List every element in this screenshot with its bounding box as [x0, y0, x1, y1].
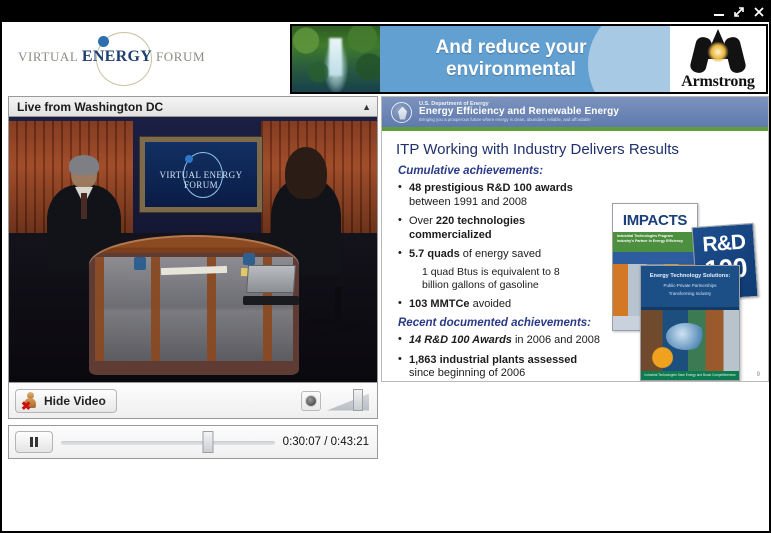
- ets-cover-footer: Industrial Technologies Save Energy and …: [641, 371, 739, 380]
- bullet-mmtce-rest: avoided: [470, 298, 512, 310]
- volume-handle[interactable]: [353, 389, 363, 411]
- ets-subtitle-2: Transforming Industry: [641, 288, 739, 296]
- publication-covers: IMPACTS Industrial Technologies Program …: [610, 203, 758, 382]
- desk-mug-right: [243, 253, 255, 265]
- video-panel-title: Live from Washington DC: [17, 100, 163, 114]
- slide-page-number: 9: [757, 372, 760, 378]
- bullet-recent-awards: 14 R&D 100 Awards in 2006 and 2008: [396, 334, 614, 348]
- hide-video-button[interactable]: ✖ Hide Video: [15, 389, 117, 413]
- bullet-tech-lead: Over: [409, 215, 436, 227]
- seek-track-line: [61, 441, 275, 445]
- bullet-tech-second: commercialized: [409, 229, 492, 241]
- logo-word-energy: ENERGY: [82, 48, 152, 65]
- close-icon[interactable]: [751, 5, 767, 20]
- logo-word-virtual: VIRTUAL: [18, 49, 78, 64]
- video-module: Live from Washington DC ▲ VIRTUAL ENERGY…: [8, 96, 378, 426]
- playback-bar: 0:30:07 / 0:43:21: [8, 425, 378, 459]
- studio-desk: [89, 235, 299, 375]
- doe-tagline: Bringing you a prosperous future where e…: [419, 118, 619, 123]
- waterfall-photo: [292, 26, 380, 92]
- chevron-up-icon[interactable]: ▲: [362, 102, 371, 112]
- impacts-blue-band: [613, 252, 697, 264]
- pause-icon: [30, 437, 38, 447]
- video-controls-bar: ✖ Hide Video: [8, 383, 378, 419]
- speaker-mute-button[interactable]: [301, 391, 321, 411]
- brand-header: VIRTUAL ENERGY FORUM: [4, 22, 289, 92]
- video-panel-header[interactable]: Live from Washington DC ▲: [8, 96, 378, 116]
- sponsor-name: Armstrong: [681, 74, 754, 90]
- time-display: 0:30:07 / 0:43:21: [283, 436, 369, 448]
- hide-video-label: Hide Video: [44, 394, 106, 408]
- bullet-technologies: Over 220 technologies commercialized: [396, 215, 614, 242]
- banner-headline-line2: environmental: [436, 59, 587, 81]
- speaker-icon: [305, 395, 317, 407]
- armstrong-a-icon: [687, 31, 749, 73]
- section-heading-cumulative: Cumulative achievements:: [398, 165, 756, 177]
- sponsor-logo: Armstrong: [670, 26, 766, 92]
- video-stage[interactable]: VIRTUAL ENERGY FORUM: [8, 116, 378, 383]
- sponsor-banner-ad[interactable]: And reduce your environmental Armstrong: [290, 24, 768, 94]
- ets-cover-photo: [641, 310, 739, 371]
- sub-note-line1: 1 quad Btus is equivalent to 8: [422, 266, 560, 278]
- bullet-plants-second: since beginning of 2006: [409, 367, 525, 379]
- chair-stem: [335, 287, 341, 321]
- impacts-subtitle-band: Industrial Technologies Program Industry…: [613, 232, 697, 252]
- logo-wordmark: VIRTUAL ENERGY FORUM: [18, 48, 268, 66]
- logo-dot-icon: [98, 36, 109, 47]
- sub-note-line2: billion gallons of gasoline: [422, 279, 539, 291]
- doe-header: U.S. Department of Energy Energy Efficie…: [382, 97, 768, 127]
- studio-monitor: VIRTUAL ENERGY FORUM: [140, 137, 262, 212]
- monitor-logo-text: VIRTUAL ENERGY FORUM: [145, 170, 257, 190]
- energy-technology-solutions-cover: Energy Technology Solutions: Public-Priv…: [640, 265, 740, 381]
- ets-footer-text: Industrial Technologies Save Energy and …: [641, 371, 739, 380]
- bullet-tech-strong: 220 technologies: [436, 215, 525, 227]
- bullet-recent-awards-strong: 14 R&D 100 Awards: [409, 334, 512, 346]
- banner-message: And reduce your environmental: [380, 26, 670, 92]
- laptop-lid: [246, 265, 296, 293]
- doe-seal-icon: [391, 102, 412, 123]
- bullet-rd100-second: between 1991 and 2008: [409, 196, 527, 208]
- bullet-quads: 5.7 quads of energy saved: [396, 248, 614, 262]
- banner-headline: And reduce your environmental: [436, 37, 615, 81]
- guest-hair: [285, 147, 327, 199]
- maximize-icon[interactable]: [731, 5, 747, 20]
- desk-mug-left: [134, 257, 146, 270]
- ets-subtitle-1: Public-Private Partnerships: [641, 280, 739, 288]
- laptop-base: [243, 296, 299, 305]
- bullet-recent-awards-rest: in 2006 and 2008: [512, 334, 600, 346]
- ets-title: Energy Technology Solutions:: [641, 266, 739, 280]
- bullet-rd100-strong: 48 prestigious R&D 100 awards: [409, 182, 573, 194]
- bullet-rd100-awards: 48 prestigious R&D 100 awards between 19…: [396, 182, 614, 209]
- person-remove-icon: ✖: [22, 392, 38, 409]
- window-controls: [711, 4, 767, 20]
- seek-handle[interactable]: [203, 431, 214, 453]
- slide-content: ITP Working with Industry Delivers Resul…: [382, 131, 768, 381]
- volume-slider[interactable]: [327, 389, 369, 413]
- monitor-logo-dot-icon: [185, 155, 193, 163]
- banner-headline-line1: And reduce your: [436, 37, 587, 59]
- seek-bar[interactable]: [61, 431, 275, 453]
- sub-note-quads: 1 quad Btus is equivalent to 8 billion g…: [396, 266, 621, 292]
- doe-header-text: U.S. Department of Energy Energy Efficie…: [419, 102, 619, 123]
- bullet-mmtce: 103 MMTCe avoided: [396, 298, 614, 312]
- bullet-mmtce-strong: 103 MMTCe: [409, 298, 470, 310]
- desk-laptop: [243, 265, 299, 305]
- audio-controls: [301, 389, 369, 413]
- bullet-quads-strong: 5.7 quads: [409, 248, 460, 260]
- virtual-energy-forum-logo: VIRTUAL ENERGY FORUM: [18, 26, 268, 88]
- studio-chair: [305, 287, 375, 359]
- logo-word-forum: FORUM: [156, 49, 205, 64]
- bullet-quads-rest: of energy saved: [460, 248, 541, 260]
- slide-title: ITP Working with Industry Delivers Resul…: [396, 141, 756, 158]
- armstrong-glow-icon: [707, 42, 729, 62]
- impacts-title: IMPACTS: [613, 204, 697, 232]
- bullet-plants-strong: 1,863 industrial plants assessed: [409, 354, 577, 366]
- title-bar: [2, 2, 769, 22]
- red-x-icon: ✖: [21, 401, 31, 411]
- host-tie: [81, 193, 87, 219]
- impacts-subtitle-2: Industry's Partner in Energy Efficiency: [617, 239, 693, 244]
- application-window: VIRTUAL ENERGY FORUM And reduce your env…: [0, 0, 771, 533]
- bullet-plants-assessed: 1,863 industrial plants assessed since b…: [396, 354, 614, 381]
- minimize-icon[interactable]: [711, 5, 727, 20]
- pause-button[interactable]: [15, 431, 53, 453]
- presentation-slide-panel[interactable]: U.S. Department of Energy Energy Efficie…: [381, 96, 769, 382]
- host-hair: [69, 155, 99, 175]
